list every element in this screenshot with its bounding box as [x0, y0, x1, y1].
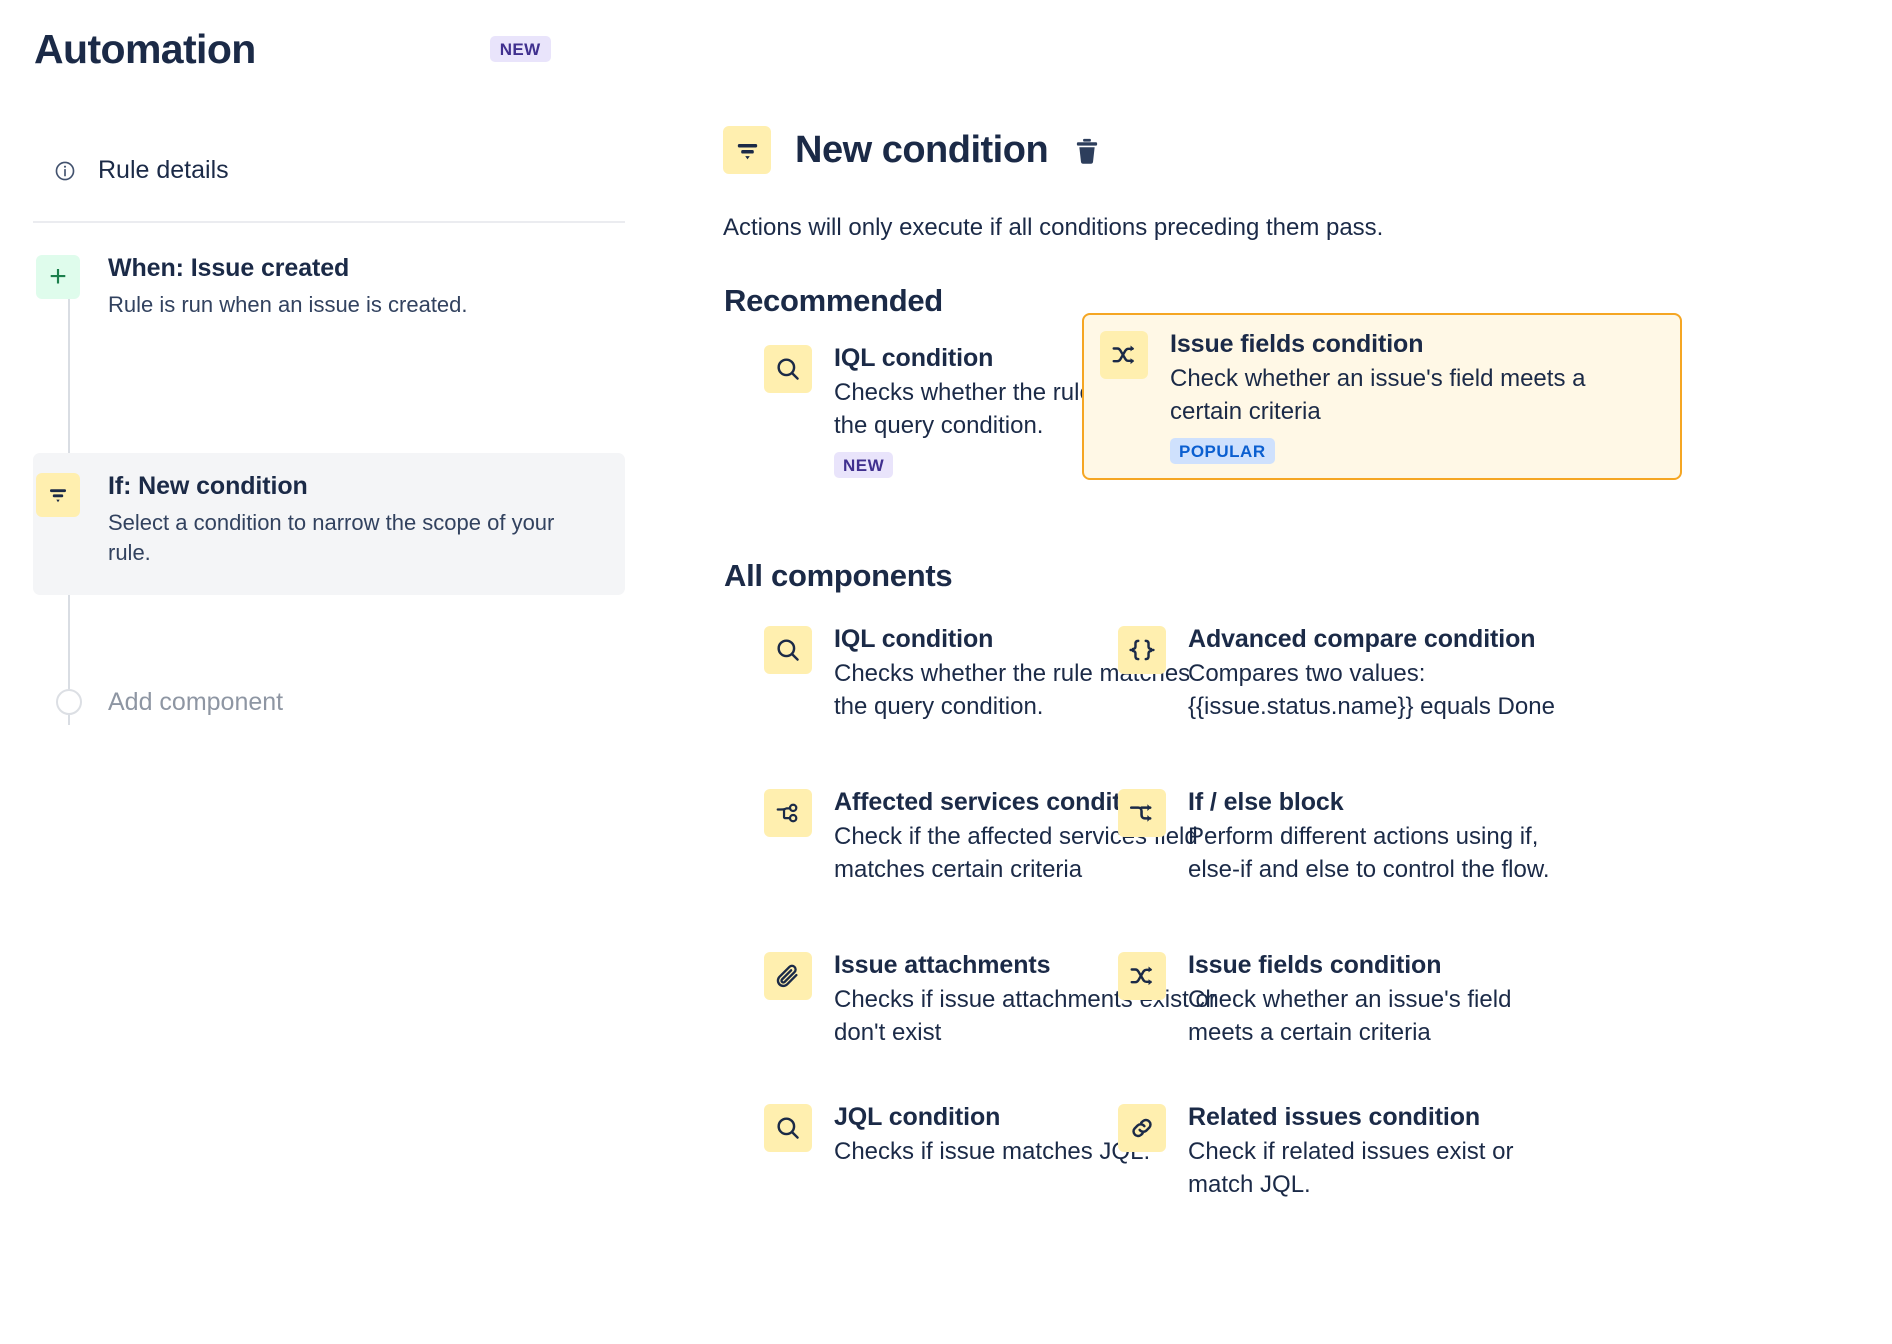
component-card-badge: NEW [834, 452, 893, 478]
shuffle-icon [1118, 952, 1166, 1000]
sidebar-divider [33, 221, 625, 223]
section-heading-all-components: All components [724, 560, 952, 591]
rule-node-description: Rule is run when an issue is created. [108, 290, 588, 320]
component-card-description: Check whether an issue's field meets a c… [1188, 984, 1577, 1049]
panel-subtitle: Actions will only execute if all conditi… [723, 212, 1383, 243]
rule-node-title: When: Issue created [108, 253, 588, 284]
component-card-badge: POPULAR [1170, 438, 1275, 464]
page-title: Automation [34, 29, 256, 70]
component-card-description: Compares two values: {{issue.status.name… [1188, 658, 1577, 723]
add-component-label: Add component [108, 690, 283, 715]
shuffle-icon [1100, 331, 1148, 379]
component-card-description: Check if related issues exist or match J… [1188, 1136, 1577, 1201]
filter-icon [36, 473, 80, 517]
component-card-text: Related issues conditionCheck if related… [1188, 1102, 1577, 1201]
sidebar-item-rule-details[interactable]: Rule details [54, 158, 229, 183]
paperclip-icon [764, 952, 812, 1000]
rule-node-condition[interactable]: If: New condition Select a condition to … [33, 453, 625, 595]
page-title-row: Automation NEW [34, 22, 594, 76]
curly-braces-icon [1118, 626, 1166, 674]
component-card-title: If / else block [1188, 787, 1577, 817]
filter-icon [723, 126, 771, 174]
component-card[interactable]: Issue fields conditionCheck whether an i… [1082, 313, 1682, 480]
automation-page: Automation NEW Rule details + When: Issu… [0, 0, 1892, 1344]
rule-details-label: Rule details [98, 158, 229, 183]
component-card[interactable]: Advanced compare conditionCompares two v… [1100, 608, 1595, 739]
rule-node-title: If: New condition [108, 471, 588, 502]
link-icon [1118, 1104, 1166, 1152]
component-card[interactable]: Issue fields conditionCheck whether an i… [1100, 934, 1595, 1065]
condition-picker-panel: New condition Actions will only execute … [700, 0, 1892, 1344]
rule-node-description: Select a condition to narrow the scope o… [108, 508, 588, 568]
services-tree-icon [764, 789, 812, 837]
component-card-description: Check whether an issue's field meets a c… [1170, 363, 1600, 428]
component-card-title: Related issues condition [1188, 1102, 1577, 1132]
page-title-new-badge: NEW [490, 36, 551, 62]
component-card[interactable]: If / else blockPerform different actions… [1100, 771, 1595, 902]
add-component-button[interactable]: Add component [56, 689, 283, 715]
search-icon [764, 1104, 812, 1152]
panel-title: New condition [795, 131, 1048, 169]
branch-icon [1118, 789, 1166, 837]
rule-builder-sidebar: Automation NEW Rule details + When: Issu… [0, 0, 700, 1344]
panel-header: New condition [723, 126, 1102, 174]
component-card-description: Perform different actions using if, else… [1188, 821, 1577, 886]
component-card-text: Issue fields conditionCheck whether an i… [1188, 950, 1577, 1049]
section-heading-recommended: Recommended [724, 285, 943, 316]
info-circle-icon [54, 160, 76, 182]
component-card-text: Issue fields conditionCheck whether an i… [1170, 329, 1600, 464]
search-icon [764, 345, 812, 393]
component-card[interactable]: Related issues conditionCheck if related… [1100, 1086, 1595, 1217]
search-icon [764, 626, 812, 674]
component-card-title: Issue fields condition [1188, 950, 1577, 980]
component-card-title: Advanced compare condition [1188, 624, 1577, 654]
plus-icon: + [36, 255, 80, 299]
component-card-text: If / else blockPerform different actions… [1188, 787, 1577, 886]
trash-icon[interactable] [1072, 137, 1102, 167]
component-card-title: Issue fields condition [1170, 329, 1600, 359]
component-card-text: Advanced compare conditionCompares two v… [1188, 624, 1577, 723]
circle-outline-icon [56, 689, 82, 715]
